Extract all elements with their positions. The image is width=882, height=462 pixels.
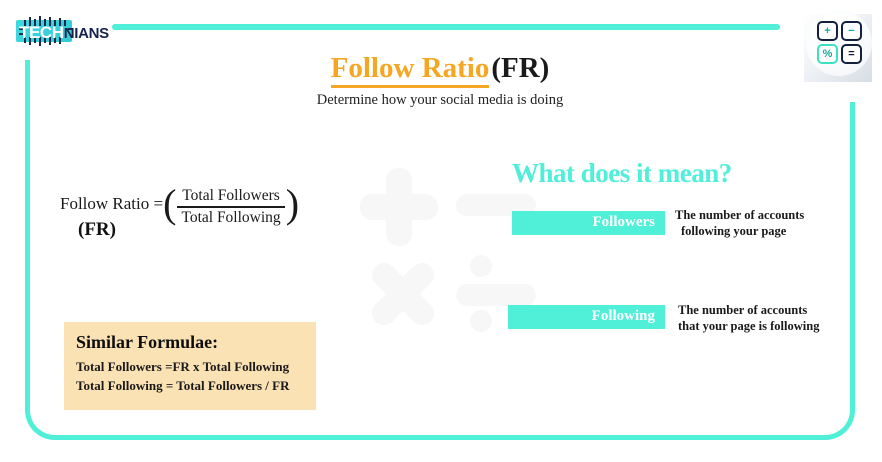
followers-badge: Followers [512, 211, 665, 235]
similar-formulae-line: Total Following = Total Followers / FR [76, 377, 304, 396]
frame-bottom-border [55, 435, 825, 440]
page-subtitle: Determine how your social media is doing [240, 92, 640, 109]
math-symbols-watermark [360, 152, 530, 332]
plus-watermark-stem [386, 168, 412, 246]
frame-right-border [850, 102, 855, 410]
equals-key-icon: = [841, 44, 862, 64]
calculator-keys: + − % = [817, 21, 863, 65]
formula-open-paren: ( [163, 186, 176, 223]
formula-denominator: Total Following [177, 208, 284, 228]
formula-left-side: Follow Ratio = [60, 186, 163, 214]
multiply-watermark-stroke-a [367, 258, 439, 330]
infographic-canvas: TECH NIANS + − % = Follow Ratio(FR) Dete… [0, 0, 882, 462]
plus-watermark-icon [360, 194, 438, 220]
followers-description-line1: The number of accounts [675, 208, 804, 222]
frame-left-border [25, 60, 30, 410]
following-description: The number of accounts that your page is… [678, 302, 819, 334]
technians-logo[interactable]: TECH NIANS [18, 16, 114, 50]
page-title-abbr: (FR) [491, 52, 549, 84]
similar-formulae-line: Total Followers =FR x Total Following [76, 358, 304, 377]
meaning-heading: What does it mean? [512, 158, 732, 189]
minus-key-icon: − [841, 21, 862, 41]
followers-description-line2: following your page [675, 223, 804, 239]
formula-fraction: Total Followers Total Following [176, 186, 285, 228]
divide-watermark-dot-bottom [470, 310, 492, 332]
similar-formulae-heading: Similar Formulae: [76, 332, 304, 353]
divide-watermark-bar [456, 284, 536, 306]
multiply-watermark-stroke-b [367, 258, 439, 330]
formula-abbreviation: (FR) [78, 219, 116, 241]
meaning-item-followers: Followers The number of accounts followi… [512, 211, 804, 239]
similar-formulae-box: Similar Formulae: Total Followers =FR x … [64, 322, 316, 410]
top-accent-bar [112, 24, 780, 30]
formula-numerator: Total Followers [178, 186, 284, 206]
percent-key-icon: % [817, 44, 838, 64]
divide-watermark-dot-top [470, 255, 492, 277]
logo-text-primary: TECH [18, 23, 64, 43]
frame-corner-bottom-right [795, 380, 855, 440]
logo-text-secondary: NIANS [64, 25, 109, 42]
following-description-line2: that your page is following [678, 318, 819, 334]
following-badge: Following [508, 305, 665, 329]
following-description-line1: The number of accounts [678, 303, 807, 317]
logo-chip-icon: TECH [18, 23, 64, 43]
meaning-item-following: Following The number of accounts that yo… [508, 305, 819, 334]
page-title-main: Follow Ratio [331, 52, 490, 88]
plus-key-icon: + [817, 21, 838, 41]
followers-description: The number of accounts following your pa… [675, 207, 804, 239]
page-title: Follow Ratio(FR) [240, 52, 640, 85]
formula-close-paren: ) [286, 186, 299, 223]
calculator-badge: + − % = [800, 6, 876, 82]
